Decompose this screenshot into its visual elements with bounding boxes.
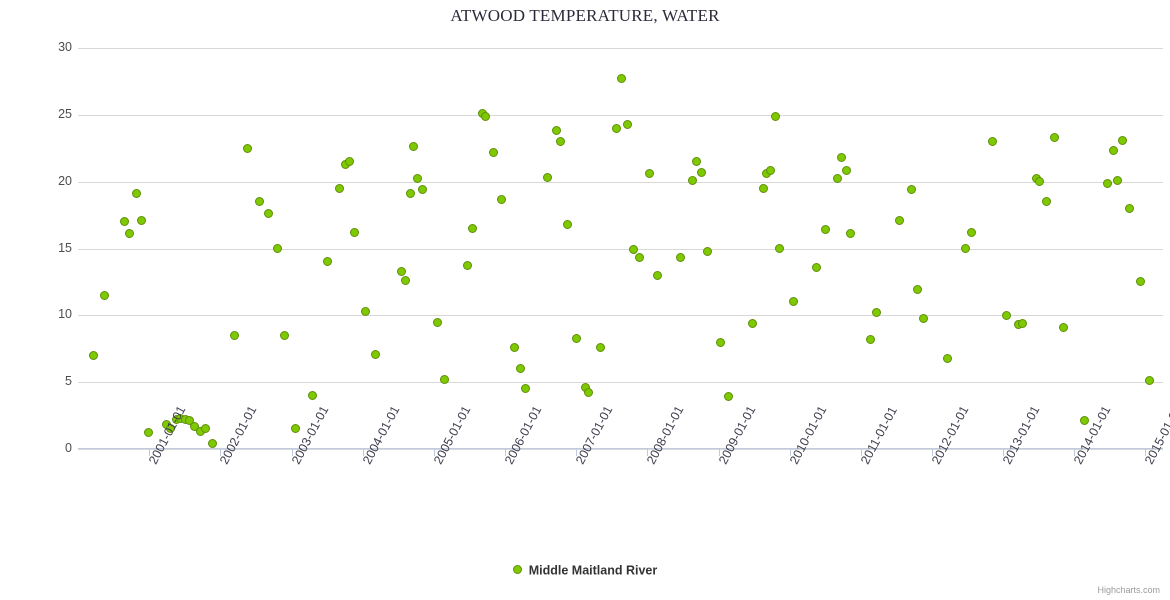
scatter-point[interactable] <box>846 229 855 238</box>
scatter-point[interactable] <box>230 331 239 340</box>
scatter-point[interactable] <box>144 428 153 437</box>
scatter-point[interactable] <box>584 388 593 397</box>
scatter-point[interactable] <box>635 253 644 262</box>
scatter-point[interactable] <box>481 112 490 121</box>
scatter-point[interactable] <box>724 392 733 401</box>
scatter-point[interactable] <box>556 137 565 146</box>
scatter-point[interactable] <box>401 276 410 285</box>
scatter-point[interactable] <box>645 169 654 178</box>
chart-legend[interactable]: Middle Maitland River <box>0 563 1170 578</box>
y-tick-label: 0 <box>12 441 72 455</box>
scatter-point[interactable] <box>323 257 332 266</box>
scatter-point[interactable] <box>563 220 572 229</box>
scatter-point[interactable] <box>1080 416 1089 425</box>
scatter-point[interactable] <box>521 384 530 393</box>
scatter-point[interactable] <box>572 334 581 343</box>
scatter-point[interactable] <box>125 229 134 238</box>
scatter-point[interactable] <box>748 319 757 328</box>
scatter-point[interactable] <box>759 184 768 193</box>
scatter-point[interactable] <box>771 112 780 121</box>
scatter-point[interactable] <box>617 74 626 83</box>
scatter-point[interactable] <box>89 351 98 360</box>
scatter-point[interactable] <box>280 331 289 340</box>
gridline-y-0 <box>78 449 1163 450</box>
highcharts-credits[interactable]: Highcharts.com <box>1097 585 1160 595</box>
scatter-point[interactable] <box>716 338 725 347</box>
scatter-point[interactable] <box>137 216 146 225</box>
scatter-point[interactable] <box>1125 204 1134 213</box>
scatter-point[interactable] <box>1050 133 1059 142</box>
scatter-point[interactable] <box>418 185 427 194</box>
scatter-point[interactable] <box>468 224 477 233</box>
highcharts-scatter-chart: ATWOOD TEMPERATURE, WATER Measurements (… <box>0 0 1170 600</box>
scatter-point[interactable] <box>1145 376 1154 385</box>
scatter-point[interactable] <box>433 318 442 327</box>
gridline-y-10 <box>78 315 1163 316</box>
scatter-point[interactable] <box>688 176 697 185</box>
scatter-point[interactable] <box>775 244 784 253</box>
scatter-point[interactable] <box>463 261 472 270</box>
scatter-point[interactable] <box>132 189 141 198</box>
plot-area[interactable] <box>78 48 1163 449</box>
scatter-point[interactable] <box>1113 176 1122 185</box>
scatter-point[interactable] <box>1136 277 1145 286</box>
scatter-point[interactable] <box>842 166 851 175</box>
scatter-point[interactable] <box>988 137 997 146</box>
scatter-point[interactable] <box>273 244 282 253</box>
scatter-point[interactable] <box>120 217 129 226</box>
scatter-point[interactable] <box>552 126 561 135</box>
scatter-point[interactable] <box>397 267 406 276</box>
scatter-point[interactable] <box>255 197 264 206</box>
scatter-point[interactable] <box>1118 136 1127 145</box>
scatter-point[interactable] <box>1002 311 1011 320</box>
scatter-point[interactable] <box>264 209 273 218</box>
scatter-point[interactable] <box>919 314 928 323</box>
scatter-point[interactable] <box>489 148 498 157</box>
scatter-point[interactable] <box>1042 197 1051 206</box>
scatter-point[interactable] <box>308 391 317 400</box>
scatter-point[interactable] <box>510 343 519 352</box>
scatter-point[interactable] <box>1109 146 1118 155</box>
scatter-point[interactable] <box>100 291 109 300</box>
scatter-point[interactable] <box>913 285 922 294</box>
scatter-point[interactable] <box>943 354 952 363</box>
chart-title: ATWOOD TEMPERATURE, WATER <box>0 6 1170 26</box>
gridline-y-30 <box>78 48 1163 49</box>
y-tick-label: 20 <box>12 174 72 188</box>
scatter-point[interactable] <box>697 168 706 177</box>
scatter-point[interactable] <box>345 157 354 166</box>
scatter-point[interactable] <box>361 307 370 316</box>
scatter-point[interactable] <box>907 185 916 194</box>
scatter-point[interactable] <box>201 424 210 433</box>
scatter-point[interactable] <box>1059 323 1068 332</box>
y-tick-label: 5 <box>12 374 72 388</box>
scatter-point[interactable] <box>703 247 712 256</box>
gridline-y-20 <box>78 182 1163 183</box>
gridline-y-15 <box>78 249 1163 250</box>
scatter-point[interactable] <box>872 308 881 317</box>
scatter-point[interactable] <box>789 297 798 306</box>
gridline-y-5 <box>78 382 1163 383</box>
scatter-point[interactable] <box>208 439 217 448</box>
scatter-point[interactable] <box>766 166 775 175</box>
scatter-point[interactable] <box>1018 319 1027 328</box>
scatter-point[interactable] <box>676 253 685 262</box>
scatter-point[interactable] <box>895 216 904 225</box>
scatter-point[interactable] <box>243 144 252 153</box>
scatter-point[interactable] <box>596 343 605 352</box>
y-tick-label: 15 <box>12 241 72 255</box>
scatter-point[interactable] <box>623 120 632 129</box>
scatter-point[interactable] <box>1103 179 1112 188</box>
legend-marker-icon <box>513 565 522 574</box>
y-tick-label: 30 <box>12 40 72 54</box>
gridline-y-25 <box>78 115 1163 116</box>
scatter-point[interactable] <box>406 189 415 198</box>
scatter-point[interactable] <box>653 271 662 280</box>
scatter-point[interactable] <box>409 142 418 151</box>
x-axis-line <box>78 448 1163 449</box>
scatter-point[interactable] <box>335 184 344 193</box>
scatter-point[interactable] <box>350 228 359 237</box>
scatter-point[interactable] <box>1035 177 1044 186</box>
scatter-point[interactable] <box>291 424 300 433</box>
scatter-point[interactable] <box>812 263 821 272</box>
scatter-point[interactable] <box>612 124 621 133</box>
legend-item-label[interactable]: Middle Maitland River <box>529 564 658 578</box>
scatter-point[interactable] <box>821 225 830 234</box>
scatter-point[interactable] <box>516 364 525 373</box>
scatter-point[interactable] <box>692 157 701 166</box>
scatter-point[interactable] <box>543 173 552 182</box>
scatter-point[interactable] <box>961 244 970 253</box>
scatter-point[interactable] <box>497 195 506 204</box>
y-tick-label: 10 <box>12 307 72 321</box>
scatter-point[interactable] <box>371 350 380 359</box>
scatter-point[interactable] <box>967 228 976 237</box>
scatter-point[interactable] <box>837 153 846 162</box>
scatter-point[interactable] <box>866 335 875 344</box>
y-tick-label: 25 <box>12 107 72 121</box>
